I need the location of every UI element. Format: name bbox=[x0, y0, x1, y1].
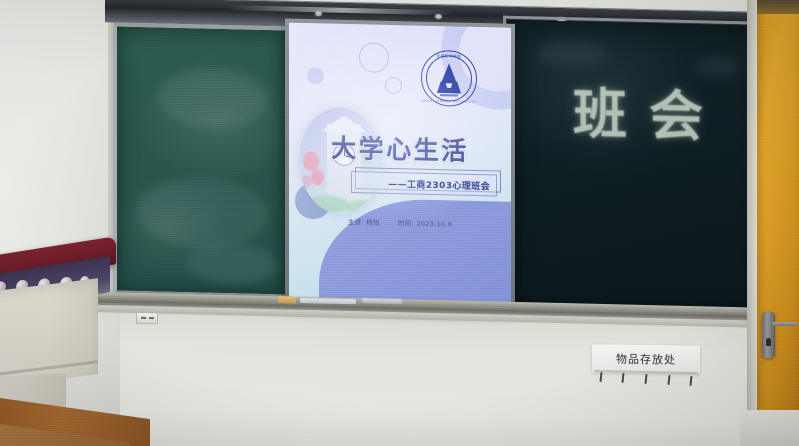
chalk-stick[interactable] bbox=[362, 298, 402, 304]
rail-highlight bbox=[225, 5, 455, 15]
rail-reflection bbox=[315, 11, 322, 16]
date-value: 2023.10.6 bbox=[416, 220, 452, 229]
chalk-scuff bbox=[537, 40, 607, 68]
decor-ring bbox=[359, 42, 389, 73]
rail-reflection bbox=[435, 14, 442, 19]
emblem-divider bbox=[440, 94, 458, 96]
door-handle[interactable] bbox=[772, 322, 798, 326]
decor-dot bbox=[307, 67, 324, 84]
chalk-smudge bbox=[187, 243, 277, 285]
university-emblem-icon: 安徽新华学院 ANHUI XINHUA UNIVERSITY bbox=[421, 50, 477, 107]
slide-title: 大学心生活 bbox=[289, 128, 511, 169]
decor-ring bbox=[385, 77, 402, 94]
projection-screen-frame: 安徽新华学院 ANHUI XINHUA UNIVERSITY 大学心生活 ——工… bbox=[285, 18, 515, 311]
presenter-value: 杨怡 bbox=[366, 218, 380, 226]
classroom-door[interactable] bbox=[757, 0, 799, 446]
tray-box[interactable] bbox=[278, 296, 296, 303]
left-chalkboard-panel[interactable] bbox=[113, 22, 291, 298]
classroom-photo: 班会 bbox=[0, 0, 799, 446]
door-keyhole-icon bbox=[766, 338, 771, 346]
wall-behind-door bbox=[740, 410, 799, 446]
emblem-text-bottom: ANHUI XINHUA UNIVERSITY bbox=[421, 98, 477, 103]
chalkboard-heading: 班会 bbox=[507, 68, 769, 153]
slide-subtitle: ——工商2303心理班会 bbox=[351, 171, 497, 196]
emblem-tower-shape bbox=[441, 63, 457, 83]
socket-slot bbox=[141, 317, 146, 319]
chalk-smudge bbox=[137, 177, 267, 250]
slide-meta-presenter: 主讲: 杨怡 bbox=[348, 216, 380, 227]
door-lock-plate[interactable] bbox=[762, 312, 775, 358]
blackboard-assembly: 班会 bbox=[95, 0, 799, 331]
decor-wave bbox=[319, 197, 511, 308]
door-top-trim bbox=[757, 0, 799, 14]
presentation-slide[interactable]: 安徽新华学院 ANHUI XINHUA UNIVERSITY 大学心生活 ——工… bbox=[289, 23, 511, 308]
date-label: 时间: bbox=[398, 219, 414, 227]
power-socket[interactable] bbox=[136, 312, 158, 324]
chalk-smudge bbox=[157, 67, 267, 130]
slide-meta-date: 时间: 2023.10.6 bbox=[398, 217, 452, 228]
socket-slot bbox=[149, 317, 154, 319]
blossom bbox=[311, 169, 324, 185]
greenery bbox=[347, 200, 379, 215]
blossom bbox=[301, 175, 312, 188]
storage-sign-text: 物品存放处 bbox=[616, 351, 676, 368]
presenter-label: 主讲: bbox=[348, 218, 364, 226]
right-chalkboard-panel[interactable]: 班会 bbox=[507, 20, 769, 316]
